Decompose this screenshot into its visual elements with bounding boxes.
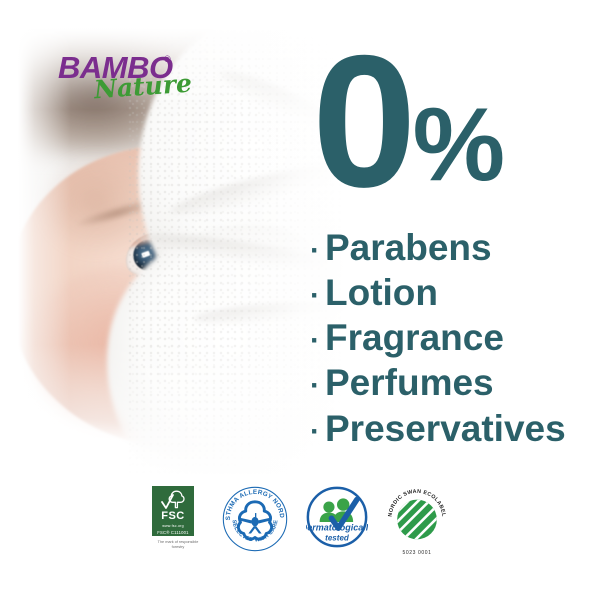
promo-image: BAMBO ® Nature 0 % · Parabens · Lotion ·… xyxy=(0,0,600,600)
derm-line2: tested xyxy=(325,534,350,543)
brand-sub-name: Nature xyxy=(93,71,192,103)
bullet-icon: · xyxy=(310,281,325,311)
free-from-list: · Parabens · Lotion · Fragrance · Perfum… xyxy=(310,225,590,451)
list-item: · Preservatives xyxy=(310,406,590,451)
list-item: · Parabens xyxy=(310,225,590,270)
swan-license-number: 5023 0001 xyxy=(402,550,431,556)
nordic-swan-ecolabel-icon: NORDIC SWAN ECOLABEL xyxy=(386,486,448,548)
bullet-icon: · xyxy=(310,417,325,447)
list-item-label: Lotion xyxy=(325,270,438,315)
list-item: · Lotion xyxy=(310,270,590,315)
registered-trademark-icon: ® xyxy=(164,54,171,64)
headline-number: 0 xyxy=(312,44,411,198)
asthma-allergy-nordic-icon: ASTHMA ALLERGY NORDIC SELECTED WITH CARE xyxy=(222,486,288,552)
dermatologically-tested-badge: Dermatologically tested xyxy=(306,486,368,553)
fsc-label: FSC xyxy=(161,511,185,522)
list-item: · Perfumes xyxy=(310,360,590,405)
dermatologically-tested-icon: Dermatologically tested xyxy=(306,486,368,548)
headline-percent-symbol: % xyxy=(413,103,505,188)
fsc-url: www.fsc.org xyxy=(162,524,184,528)
bullet-icon: · xyxy=(310,326,325,356)
certification-badges: FSC www.fsc.org FSC® C111001 The mark of… xyxy=(0,486,600,557)
bullet-icon: · xyxy=(310,371,325,401)
asthma-allergy-nordic-badge: ASTHMA ALLERGY NORDIC SELECTED WITH CARE xyxy=(222,486,288,557)
nordic-swan-ecolabel-badge: NORDIC SWAN ECOLABEL 5023 0001 xyxy=(386,486,448,556)
fsc-tagline: The mark of responsible forestry xyxy=(152,540,204,550)
fsc-code: FSC® C111001 xyxy=(157,530,188,535)
headline-zero-percent: 0 % xyxy=(312,44,505,198)
list-item-label: Fragrance xyxy=(325,315,504,360)
brand-logo: BAMBO ® Nature xyxy=(58,52,198,108)
list-item-label: Parabens xyxy=(325,225,492,270)
list-item: · Fragrance xyxy=(310,315,590,360)
bullet-icon: · xyxy=(310,236,325,266)
fsc-badge: FSC www.fsc.org FSC® C111001 The mark of… xyxy=(152,486,204,550)
list-item-label: Preservatives xyxy=(325,406,566,451)
fsc-tree-checkmark-icon xyxy=(160,489,186,510)
list-item-label: Perfumes xyxy=(325,360,494,405)
derm-line1: Dermatologically xyxy=(306,523,368,533)
